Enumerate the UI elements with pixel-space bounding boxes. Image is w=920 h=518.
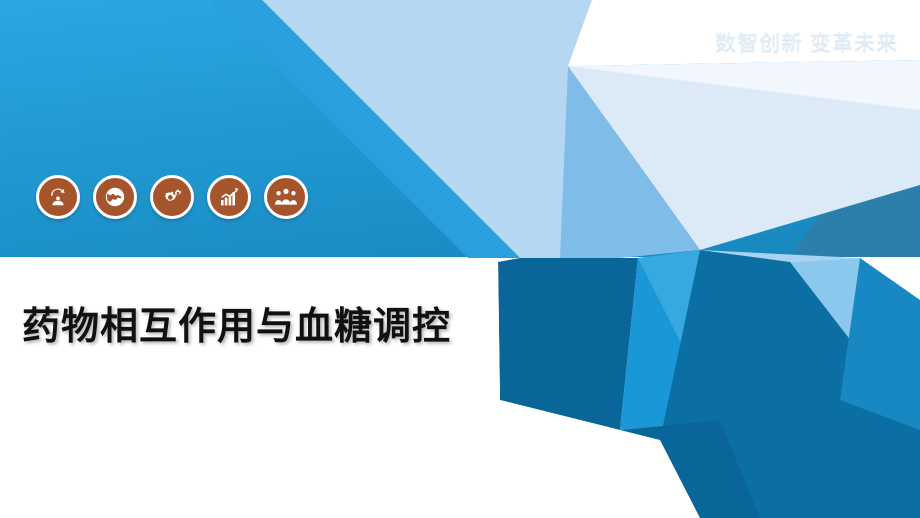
- globe-icon: [103, 185, 127, 209]
- people-team-icon: [273, 185, 299, 209]
- title-slide: 数智创新 变革未来: [0, 0, 920, 518]
- icon-badge-recycle-person[interactable]: [36, 175, 80, 219]
- polygon-deep-left: [498, 258, 638, 430]
- feature-icon-row: [36, 175, 308, 219]
- icon-badge-bar-chart-growth[interactable]: [207, 175, 251, 219]
- recycle-person-icon: [46, 185, 70, 209]
- page-title: 药物相互作用与血糖调控: [22, 295, 451, 350]
- icon-badge-people-team[interactable]: [264, 175, 308, 219]
- gears-icon: [160, 185, 185, 210]
- background-artwork: [0, 0, 920, 518]
- slide-tagline: 数智创新 变革未来: [715, 27, 898, 57]
- bar-chart-growth-icon: [217, 185, 241, 209]
- icon-badge-globe[interactable]: [93, 175, 137, 219]
- icon-badge-gears[interactable]: [150, 175, 194, 219]
